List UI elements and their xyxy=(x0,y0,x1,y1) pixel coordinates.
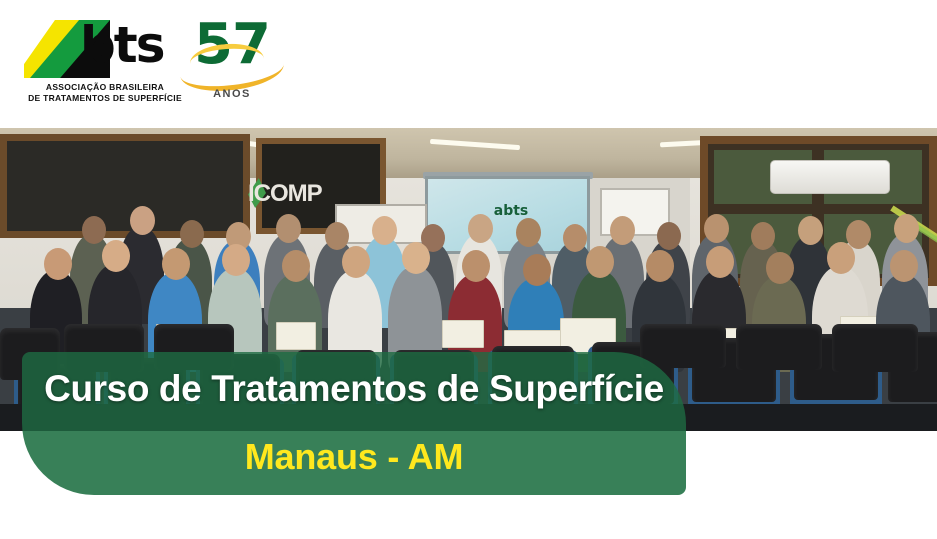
banner-subtitle-location: Manaus - AM xyxy=(22,434,686,480)
abts-logo: bts ASSOCIAÇÃO BRASILEIRA DE TRATAMENTOS… xyxy=(24,18,184,110)
abts-subtitle: ASSOCIAÇÃO BRASILEIRA DE TRATAMENTOS DE … xyxy=(26,82,184,104)
header-bar: bts ASSOCIAÇÃO BRASILEIRA DE TRATAMENTOS… xyxy=(0,0,937,128)
anniversary-logo: 57 ANOS xyxy=(176,14,288,110)
abts-subtitle-line2: DE TRATAMENTOS DE SUPERFÍCIE xyxy=(26,93,184,104)
photo-air-conditioner xyxy=(770,160,890,194)
abts-mark-icon: bts xyxy=(24,18,184,80)
abts-subtitle-line1: ASSOCIAÇÃO BRASILEIRA xyxy=(26,82,184,93)
event-banner: Curso de Tratamentos de Superfície Manau… xyxy=(22,352,686,495)
abts-wordmark: bts xyxy=(80,17,163,73)
page-title: Curso de Tratamentos de Superfície xyxy=(22,366,686,412)
poster-canvas: bts ASSOCIAÇÃO BRASILEIRA DE TRATAMENTOS… xyxy=(0,0,937,539)
anniversary-label: ANOS xyxy=(176,88,288,100)
